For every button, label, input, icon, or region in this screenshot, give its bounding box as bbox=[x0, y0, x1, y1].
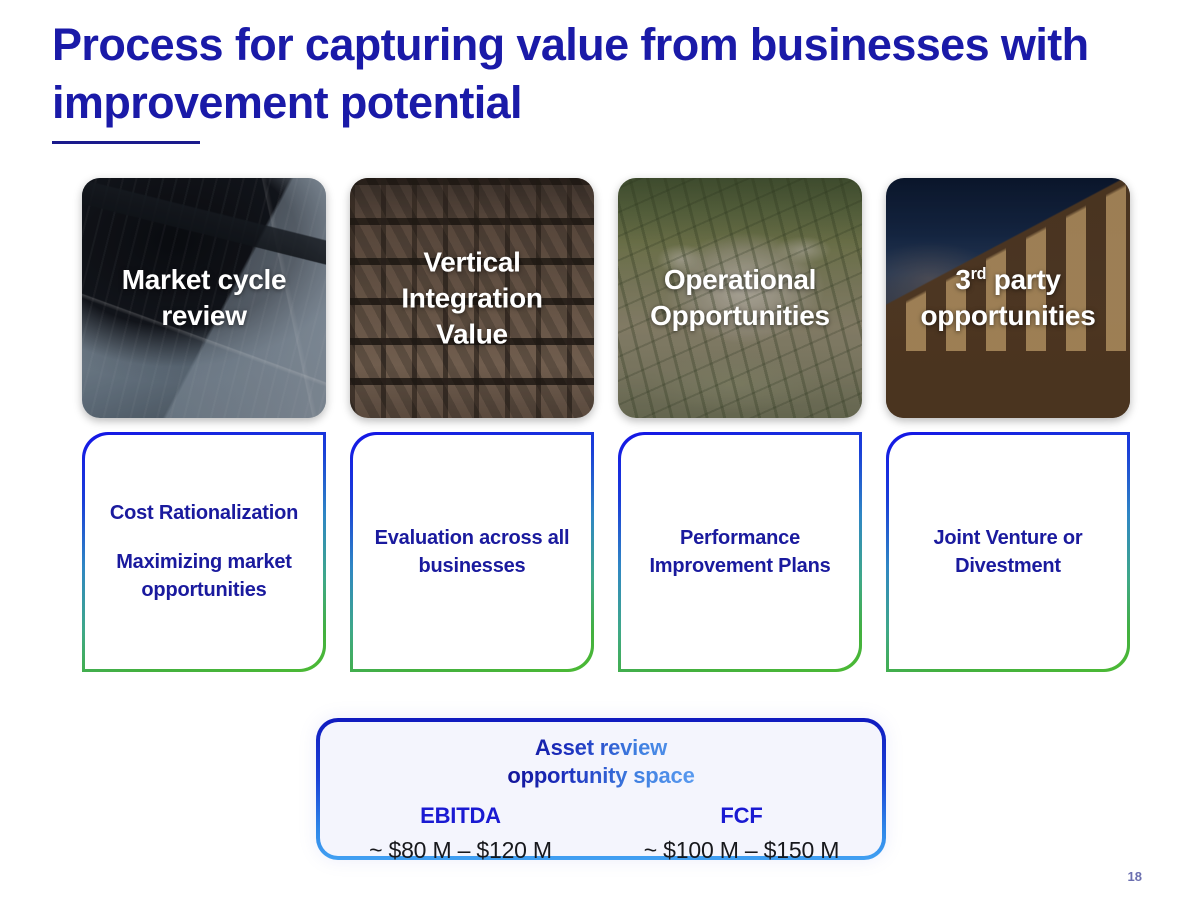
detail-box-text: Cost Rationalization Maximizing market o… bbox=[99, 499, 309, 604]
asset-review-summary-box[interactable]: Asset review opportunity space EBITDA ~ … bbox=[316, 718, 886, 860]
metric-label-fcf: FCF bbox=[612, 803, 871, 829]
card-caption-line-3: Value bbox=[436, 318, 508, 349]
card-caption-line-2: Integration bbox=[401, 282, 542, 313]
detail-box-paragraph-1: Cost Rationalization bbox=[99, 499, 309, 527]
detail-box-evaluation-across-all-businesses[interactable]: Evaluation across all businesses bbox=[350, 432, 594, 672]
detail-box-text: Performance Improvement Plans bbox=[635, 524, 845, 581]
card-caption-line-2: party bbox=[986, 264, 1060, 295]
card-caption-operational-opportunities: Operational Opportunities bbox=[618, 262, 862, 334]
detail-box-row: Cost Rationalization Maximizing market o… bbox=[82, 432, 1130, 672]
card-caption-market-cycle-review: Market cycle review bbox=[82, 262, 326, 334]
card-caption-line-1: Vertical bbox=[423, 246, 520, 277]
detail-box-inner: Performance Improvement Plans bbox=[621, 435, 859, 669]
detail-box-paragraph-2: Maximizing market opportunities bbox=[99, 548, 309, 605]
image-card-3rd-party-opportunities[interactable]: 3rd party opportunities bbox=[886, 178, 1130, 418]
metric-fcf: FCF ~ $100 M – $150 M bbox=[612, 803, 871, 864]
metric-ebitda: EBITDA ~ $80 M – $120 M bbox=[331, 803, 590, 864]
summary-box-inner: Asset review opportunity space EBITDA ~ … bbox=[320, 722, 882, 856]
metric-value-ebitda: ~ $80 M – $120 M bbox=[331, 837, 590, 864]
detail-box-inner: Joint Venture or Divestment bbox=[889, 435, 1127, 669]
detail-box-inner: Cost Rationalization Maximizing market o… bbox=[85, 435, 323, 669]
detail-box-paragraph-1: Joint Venture or Divestment bbox=[903, 524, 1113, 581]
detail-box-inner: Evaluation across all businesses bbox=[353, 435, 591, 669]
card-caption-line-1: Operational bbox=[664, 264, 816, 295]
card-caption-line-2: review bbox=[161, 300, 246, 331]
card-caption-3rd-party-opportunities: 3rd party opportunities bbox=[886, 262, 1130, 334]
card-caption-superscript: rd bbox=[971, 265, 987, 283]
card-caption-vertical-integration-value: Vertical Integration Value bbox=[350, 244, 594, 351]
page-title: Process for capturing value from busines… bbox=[52, 16, 1112, 131]
image-card-vertical-integration-value[interactable]: Vertical Integration Value bbox=[350, 178, 594, 418]
metric-value-fcf: ~ $100 M – $150 M bbox=[612, 837, 871, 864]
detail-box-cost-rationalization[interactable]: Cost Rationalization Maximizing market o… bbox=[82, 432, 326, 672]
card-caption-line-2: Opportunities bbox=[650, 300, 830, 331]
summary-heading: Asset review opportunity space bbox=[507, 734, 694, 789]
title-underline-rule bbox=[52, 141, 200, 144]
slide-root: Process for capturing value from busines… bbox=[0, 0, 1200, 900]
detail-box-paragraph-1: Evaluation across all businesses bbox=[367, 524, 577, 581]
summary-heading-line-1: Asset review bbox=[535, 735, 667, 760]
image-card-market-cycle-review[interactable]: Market cycle review bbox=[82, 178, 326, 418]
card-caption-line-1: Market cycle bbox=[122, 264, 287, 295]
detail-box-joint-venture-or-divestment[interactable]: Joint Venture or Divestment bbox=[886, 432, 1130, 672]
detail-box-text: Evaluation across all businesses bbox=[367, 524, 577, 581]
detail-box-text: Joint Venture or Divestment bbox=[903, 524, 1113, 581]
summary-metrics: EBITDA ~ $80 M – $120 M FCF ~ $100 M – $… bbox=[320, 803, 882, 864]
image-card-row: Market cycle review Vertical Integration… bbox=[82, 178, 1130, 418]
metric-label-ebitda: EBITDA bbox=[331, 803, 590, 829]
page-number: 18 bbox=[1128, 869, 1142, 884]
detail-box-performance-improvement-plans[interactable]: Performance Improvement Plans bbox=[618, 432, 862, 672]
card-caption-line-1: 3 bbox=[955, 264, 970, 295]
card-caption-line-3: opportunities bbox=[921, 300, 1096, 331]
title-block: Process for capturing value from busines… bbox=[52, 16, 1112, 144]
image-card-operational-opportunities[interactable]: Operational Opportunities bbox=[618, 178, 862, 418]
summary-heading-line-2: opportunity space bbox=[507, 763, 694, 788]
detail-box-paragraph-1: Performance Improvement Plans bbox=[635, 524, 845, 581]
